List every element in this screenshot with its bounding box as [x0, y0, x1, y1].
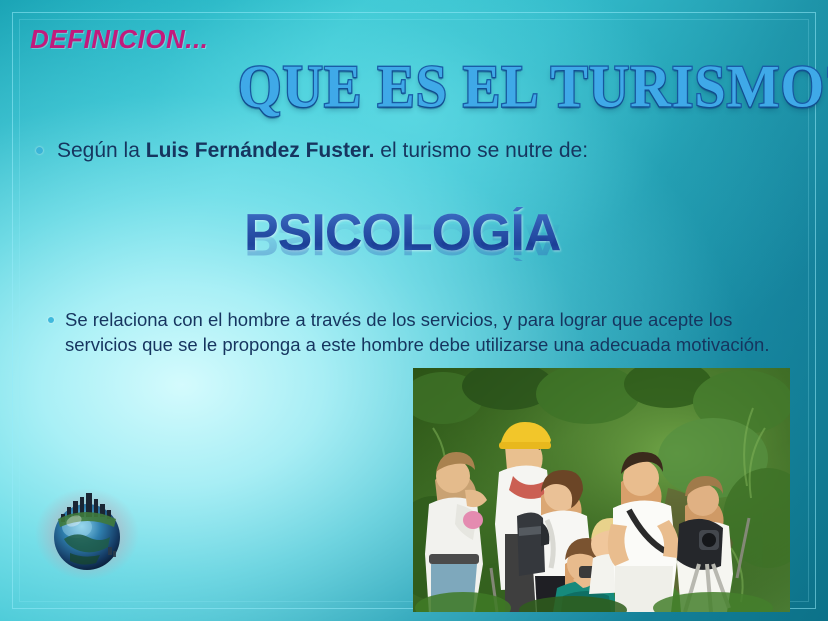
page-title: QUE ES EL TURISMO?	[238, 57, 828, 117]
bullet-1-author: Luis Fernández Fuster.	[146, 139, 375, 162]
bullet-dot-icon	[48, 317, 54, 323]
list-item-text: Según la Luis Fernández Fuster. el turis…	[57, 136, 588, 166]
bullet-1-suffix: el turismo se nutre de:	[374, 139, 588, 162]
list-item: Según la Luis Fernández Fuster. el turis…	[36, 136, 636, 166]
bullet-1-prefix: Según la	[57, 139, 146, 162]
globe-illustration	[34, 487, 140, 581]
list-item: Se relaciona con el hombre a través de l…	[48, 308, 808, 358]
globe-icon	[34, 487, 140, 581]
bullet-dot-icon	[36, 147, 43, 154]
tourists-photo	[413, 368, 790, 612]
section-heading-definicion: DEFINICION...	[30, 24, 208, 55]
wordart-psicologia-text: PSICOLOGÍA	[244, 207, 594, 259]
slide-canvas: DEFINICION... QUE ES EL TURISMO? Según l…	[0, 0, 828, 621]
wordart-psicologia: PSICOLOGÍA PSICOLOGÍA	[244, 207, 594, 303]
list-item-text: Se relaciona con el hombre a través de l…	[65, 308, 808, 358]
tourists-photo-illustration	[413, 368, 790, 612]
